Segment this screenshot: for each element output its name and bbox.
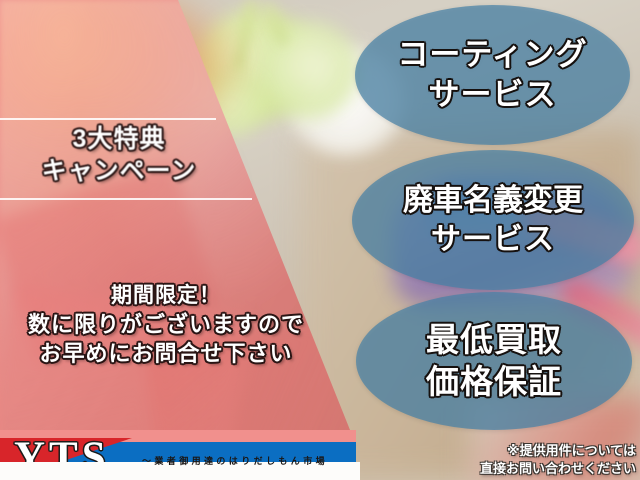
headline-line1: 3大特典	[0, 124, 238, 155]
limited-offer-line3: お早めにお問合せ下さい	[0, 339, 332, 368]
benefit-ellipse-minimum-purchase-price-guarantee: 最低買取 価格保証	[356, 292, 632, 430]
limited-offer-line1: 期間限定！	[0, 282, 332, 310]
benefit-ellipse-coating-service: コーティング サービス	[355, 5, 630, 145]
benefit-3-line1: 最低買取	[426, 319, 562, 361]
footnote-block: ※提供用件については 直接お問い合わせください	[430, 442, 636, 478]
benefit-2-line2: サービス	[431, 220, 555, 259]
footnote-line2: 直接お問い合わせください	[430, 460, 636, 478]
benefit-2-line1: 廃車名義変更	[403, 182, 583, 220]
benefit-1-line2: サービス	[429, 75, 557, 115]
headline-rule-bottom	[0, 198, 252, 200]
benefit-1-line1: コーティング	[397, 35, 587, 75]
footnote-line1: ※提供用件については	[430, 442, 636, 460]
promo-banner: 3大特典 キャンペーン 期間限定！ 数に限りがございますので お早めにお問合せ下…	[0, 0, 640, 480]
headline-rule-top	[0, 118, 216, 120]
benefit-ellipse-scrap-title-transfer-service: 廃車名義変更 サービス	[352, 150, 634, 290]
headline-block: 3大特典 キャンペーン	[0, 124, 238, 188]
limited-offer-block: 期間限定！ 数に限りがございますので お早めにお問合せ下さい	[0, 282, 332, 368]
logo-tagline: 〜業者御用達のはりだしもん市場	[142, 454, 328, 467]
headline-line2: キャンペーン	[0, 155, 238, 188]
benefit-3-line2: 価格保証	[426, 361, 562, 403]
limited-offer-line2: 数に限りがございますので	[0, 310, 332, 339]
